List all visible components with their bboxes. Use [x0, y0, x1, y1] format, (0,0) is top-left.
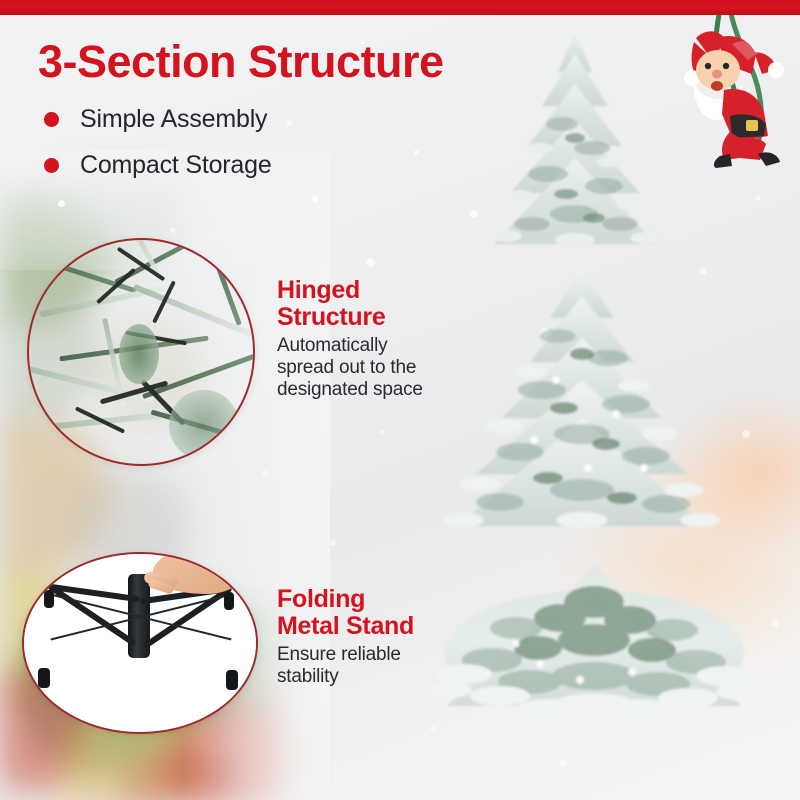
callout-title-line1: Hinged	[277, 277, 423, 304]
top-red-bar	[0, 0, 800, 15]
bullet-dot-icon	[44, 158, 59, 173]
callout-title: Hinged Structure	[277, 277, 423, 331]
callout-body-line1: Automatically	[277, 335, 423, 357]
callout-body-line3: designated space	[277, 379, 423, 401]
bullet-label: Compact Storage	[80, 151, 272, 180]
promo-poster: 3-Section Structure Simple Assembly Comp…	[0, 0, 800, 800]
stand-foot	[224, 592, 234, 610]
callout-body-line1: Ensure reliable	[277, 644, 414, 666]
santa-climbing-rope-icon	[672, 8, 800, 168]
callout-body-line2: spread out to the	[277, 357, 423, 379]
callout-title-line2: Metal Stand	[277, 613, 414, 640]
bullet-label: Simple Assembly	[80, 105, 267, 134]
tree-middle-section	[438, 262, 726, 552]
list-item: Compact Storage	[44, 151, 272, 180]
stand-foot	[226, 670, 238, 690]
callout-title: Folding Metal Stand	[277, 586, 414, 640]
bullet-dot-icon	[44, 112, 59, 127]
callout-title-line2: Structure	[277, 304, 423, 331]
callout-hinged-structure: Hinged Structure Automatically spread ou…	[277, 277, 423, 401]
stand-foot	[44, 590, 54, 608]
callout-title-line1: Folding	[277, 586, 414, 613]
tree-bottom-section	[420, 556, 768, 756]
stand-photo	[24, 554, 256, 732]
feature-bullet-list: Simple Assembly Compact Storage	[44, 105, 272, 197]
callout-body-line2: stability	[277, 666, 414, 688]
folding-metal-stand-inset	[22, 552, 258, 734]
list-item: Simple Assembly	[44, 105, 272, 134]
page-title: 3-Section Structure	[38, 36, 444, 88]
callout-body: Automatically spread out to the designat…	[277, 335, 423, 401]
callout-folding-metal-stand: Folding Metal Stand Ensure reliable stab…	[277, 586, 414, 688]
hinged-branch-closeup-inset	[27, 238, 255, 466]
flocked-branch-photo	[29, 240, 253, 464]
stand-foot	[38, 668, 50, 688]
callout-body: Ensure reliable stability	[277, 644, 414, 688]
tree-top-section	[470, 28, 680, 268]
